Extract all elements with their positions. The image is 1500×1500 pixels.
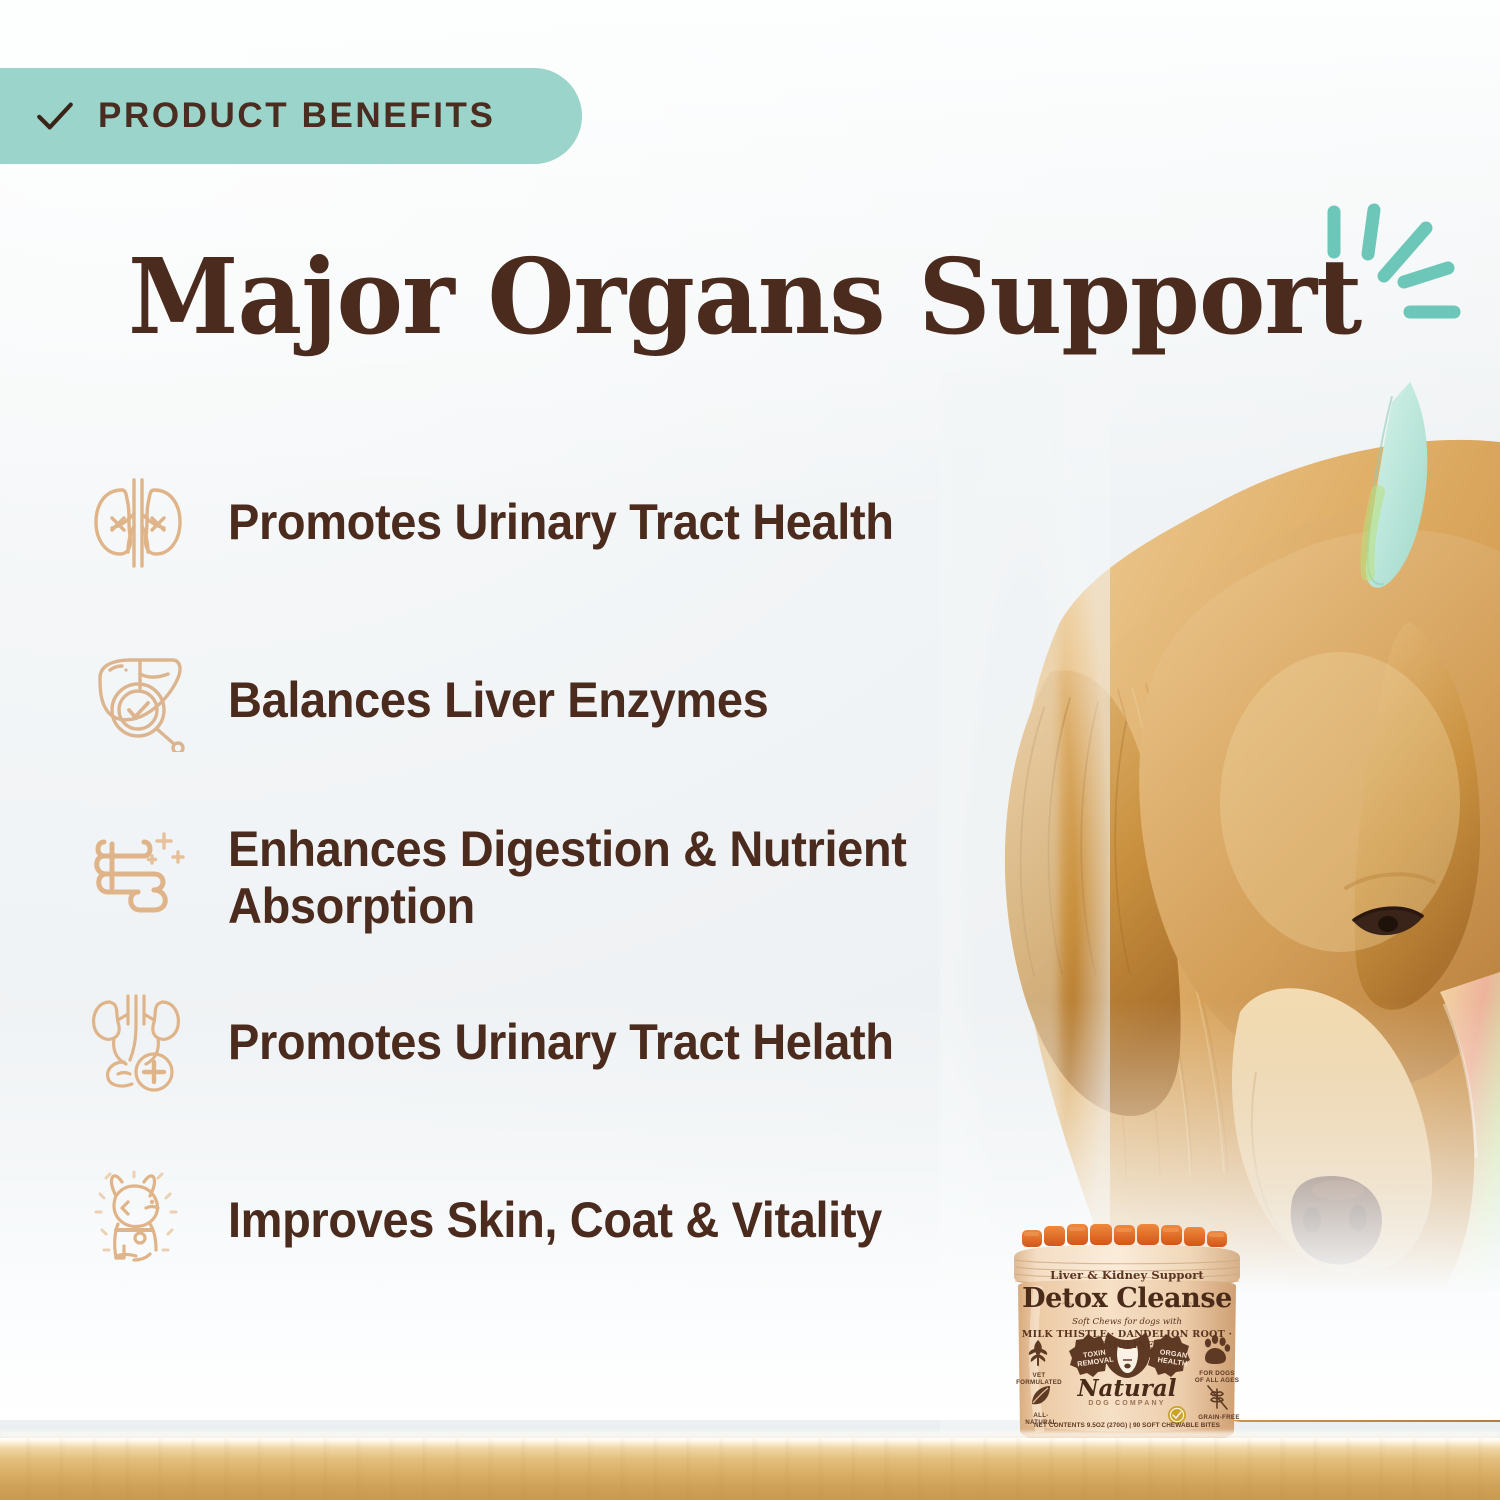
intestine-sparkle-icon (88, 826, 188, 930)
benefit-label: Improves Skin, Coat & Vitality (228, 1192, 882, 1249)
benefits-list: Promotes Urinary Tract Health Balances L… (88, 462, 1098, 1338)
product-subtitle: Liver & Kidney Support (1004, 1268, 1250, 1282)
product-ingredients: MILK THISTLE · DANDELION ROOT · CHOLINE (1004, 1329, 1250, 1351)
product-form-line: Soft Chews for dogs with (1004, 1317, 1250, 1327)
list-item: Balances Liver Enzymes (88, 640, 1098, 760)
sparkle-burst-icon (1318, 196, 1500, 356)
organ-health-caption: ORGANHEALTH (1149, 1347, 1197, 1369)
product-benefits-label: PRODUCT BENEFITS (98, 96, 495, 136)
product-benefits-badge: PRODUCT BENEFITS (0, 68, 582, 164)
product-title: Detox Cleanse (1004, 1283, 1250, 1314)
page-title: Major Organs Support (128, 244, 1361, 350)
check-icon (34, 95, 76, 137)
kidneys-icon (88, 470, 188, 574)
benefit-label: Promotes Urinary Tract Health (228, 494, 894, 551)
list-item: Enhances Digestion & Nutrient Absorption (88, 818, 1098, 938)
brand-tagline: DOG COMPANY (1004, 1400, 1250, 1407)
for-dogs-all-ages-caption: FOR DOGSOF ALL AGES (1190, 1370, 1244, 1384)
grain-free-caption: GRAIN-FREE (1192, 1414, 1246, 1421)
list-item: Promotes Urinary Tract Health (88, 462, 1098, 582)
liver-magnifier-icon (88, 648, 188, 752)
list-item: Promotes Urinary Tract Helath (88, 982, 1098, 1102)
wooden-floor (0, 1438, 1500, 1500)
infographic-canvas: PRODUCT BENEFITS Major Organs Support (0, 0, 1500, 1500)
dog-vitality-icon (88, 1168, 188, 1272)
urinary-system-plus-icon (88, 990, 188, 1094)
all-natural-caption: ALL-NATURAL (1014, 1412, 1068, 1426)
benefit-label: Promotes Urinary Tract Helath (228, 1014, 894, 1071)
toxin-removal-caption: TOXINREMOVAL (1071, 1347, 1119, 1369)
vet-formulated-caption: VETFORMULATED (1012, 1372, 1066, 1386)
list-item: Improves Skin, Coat & Vitality (88, 1160, 1098, 1280)
benefit-label: Balances Liver Enzymes (228, 672, 768, 729)
jar-label-text-layer: Liver & Kidney Support Detox Cleanse Sof… (1004, 1224, 1250, 1462)
benefit-label: Enhances Digestion & Nutrient Absorption (228, 821, 1046, 935)
